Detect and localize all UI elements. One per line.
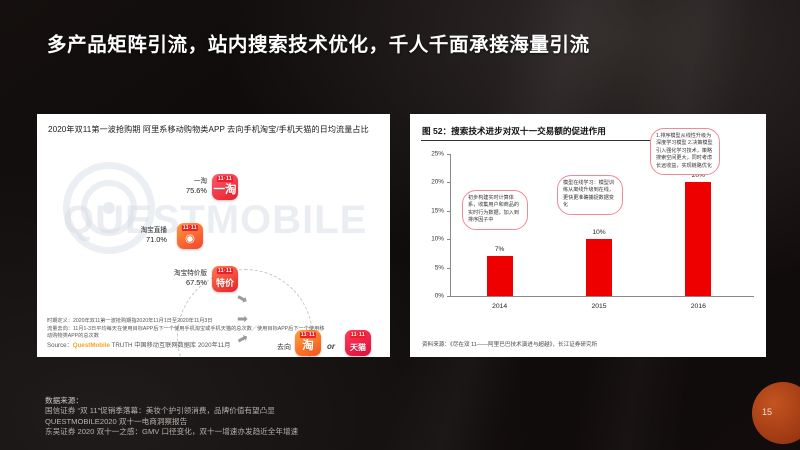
source-prefix: Source： (47, 342, 73, 349)
left-panel-notes: 时期定义：2020年双11第一波抢购期指2020年11月1日至2020年11月3… (47, 318, 382, 350)
taobao-live-glyph: ◉ (185, 234, 195, 250)
left-chart-panel: 2020年双11第一波抢购期 阿里系移动购物类APP 去向手机淘宝/手机天猫的日… (37, 114, 390, 357)
y-axis-tick (447, 296, 450, 297)
note-line-0: 时期定义：2020年双11第一波抢购期指2020年11月1日至2020年11月3… (47, 318, 382, 326)
source-app-1: 11·11 ◉ (177, 223, 203, 249)
y-axis-label: 10% (422, 236, 444, 243)
slide-root: 多产品矩阵引流，站内搜索技术优化，千人千面承接海量引流 2020年双11第一波抢… (0, 0, 800, 450)
note-line-2: 动购物类APP的总次数 (47, 333, 382, 341)
y-axis-tick (447, 239, 450, 240)
double11-badge: 11·11 (217, 176, 233, 182)
source-app-2: 11·11 特价 (212, 266, 238, 292)
footer-sources: 数据来源： 国信证券 “双 11”促销季落幕：美妆个护引领消费，品牌价值有望凸显… (45, 396, 298, 438)
bar-2015 (586, 239, 612, 296)
callout-0: 初步构建实时计算体系，收集用户和商品的实时行为数据，加入到排序因子中 (462, 190, 528, 230)
tejia-glyph: 特价 (216, 279, 234, 292)
x-axis (450, 296, 754, 297)
right-panel-title: 图 52：搜索技术进步对双十一交易额的促进作用 (422, 125, 606, 137)
title-underline (421, 140, 664, 141)
x-axis-label-2016: 2016 (691, 303, 706, 310)
y-axis (450, 154, 451, 296)
source-app-label-1: 淘宝直播 71.0% (115, 226, 167, 244)
footer-line-1: 国信证券 “双 11”促销季落幕：美妆个护引领消费，品牌价值有望凸显 (45, 406, 298, 416)
x-axis-label-2014: 2014 (492, 303, 507, 310)
y-axis-label: 5% (422, 264, 444, 271)
bar-value-2014: 7% (495, 246, 505, 253)
bar-2014 (487, 256, 513, 296)
yitao-app-icon: 11·11 一淘 (212, 174, 238, 200)
y-axis-tick (447, 211, 450, 212)
y-axis-tick (447, 154, 450, 155)
source-app-0: 11·11 一淘 (212, 174, 238, 200)
callout-2: 1.排序模型从线性升级为深度学习模型 2.决策模型引入强化学习技术，策略搜索空间… (650, 128, 720, 175)
double11-badge: 11·11 (182, 225, 198, 231)
y-axis-label: 0% (422, 293, 444, 300)
left-panel-source: Source：QuestMobile TRUTH 中国移动互联网数据库 2020… (47, 342, 382, 350)
bar-2016 (685, 182, 711, 296)
y-axis-label: 20% (422, 179, 444, 186)
double11-badge: 11·11 (217, 268, 233, 274)
footer-line-0: 数据来源： (45, 396, 298, 406)
right-panel-source: 资料来源：《尽在双 11——阿里巴巴技术演进与超越》，长江证券研究所 (422, 340, 597, 348)
page-number: 15 (762, 407, 772, 417)
footer-line-2: QUESTMOBILE2020 双十一电商洞察报告 (45, 417, 298, 427)
right-chart-panel: 图 52：搜索技术进步对双十一交易额的促进作用 25%20%15%10%5%0%… (410, 114, 766, 357)
footer-line-3: 东吴证券 2020 双十一之感：GMV 口径变化，双十一增速亦发趋近全年增速 (45, 427, 298, 437)
source-rest: TRUTH 中国移动互联网数据库 2020年11月 (110, 342, 230, 349)
left-panel-title: 2020年双11第一波抢购期 阿里系移动购物类APP 去向手机淘宝/手机天猫的日… (48, 124, 369, 135)
y-axis-tick (447, 268, 450, 269)
x-axis-label-2015: 2015 (591, 303, 606, 310)
taobao-live-app-icon: 11·11 ◉ (177, 223, 203, 249)
source-app-label-2: 淘宝特价版 67.5% (142, 269, 207, 287)
yitao-glyph: 一淘 (214, 185, 237, 201)
page-number-orb (752, 382, 800, 444)
y-axis-label: 15% (422, 207, 444, 214)
source-app-label-0: 一淘 75.6% (155, 177, 207, 195)
bar-value-2015: 10% (592, 229, 605, 236)
y-axis-label: 25% (422, 151, 444, 158)
questmobile-brand: QuestMobile (73, 342, 110, 349)
y-axis-tick (447, 182, 450, 183)
callout-1: 模型在线学习：模型训练从离线升级到在线，更快更准确捕捉数据变化 (557, 175, 623, 215)
page-title: 多产品矩阵引流，站内搜索技术优化，千人千面承接海量引流 (47, 28, 590, 57)
taobao-tejia-app-icon: 11·11 特价 (212, 266, 238, 292)
